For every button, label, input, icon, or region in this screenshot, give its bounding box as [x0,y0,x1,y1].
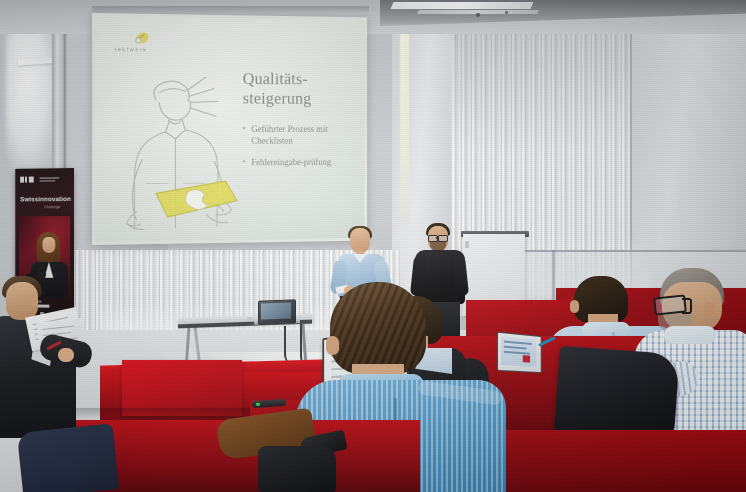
slide-logo: tektwerk [115,30,183,61]
slide-heading: Qualitäts- steigerung [243,69,365,109]
clicker-led [256,403,260,406]
banner-subtitle: Challenge [44,205,74,209]
attendee-ear [570,300,579,313]
projected-slide: tektwerk Qualitäts- steigerung Geführter… [95,16,364,242]
slide-bullet-item: Geführter Prozess mit Checklisten [243,124,365,148]
slide-illustration-sketch [113,76,239,236]
banner-title: Swissinnovation [20,196,71,203]
attendee-collar [664,326,716,344]
slide-bullet-list: Geführter Prozess mit Checklisten Fehler… [243,124,365,179]
laptop-display [261,303,291,320]
leaf-logo-icon [132,31,150,47]
bag [258,446,336,492]
glasses-bridge [436,237,439,239]
wall-glow [6,22,58,172]
attendee-suit-with-papers [0,276,140,492]
attendee-hair [330,282,426,374]
ceiling-spotlight [505,11,508,14]
glasses-icon [438,235,448,242]
banner-person-face [43,237,56,253]
slide-logo-text: tektwerk [115,47,183,54]
banner-org-logo-icon [20,175,67,184]
attendee-hand [58,348,74,362]
attendee-ear [704,302,715,317]
projection-screen[interactable]: tektwerk Qualitäts- steigerung Geführter… [92,13,367,245]
wall-light-slot [400,34,409,224]
tablet-highlight [523,355,530,362]
attendee-shin [38,461,77,492]
slide-heading-line1: Qualitäts- [243,69,365,89]
tablet-screen [501,336,536,367]
slide-heading-line2: steigerung [243,89,365,109]
ceiling-spotlight [476,13,480,17]
ceiling-light-strip [391,2,534,9]
conference-room-photo: tektwerk Qualitäts- steigerung Geführter… [0,0,746,492]
mouse[interactable] [247,317,253,321]
attendee-ear [30,296,38,306]
slide-bullet-item: Fehlereingabe-prüfung [243,157,365,169]
attendee-ear [326,336,339,355]
glasses-temple [682,298,692,314]
